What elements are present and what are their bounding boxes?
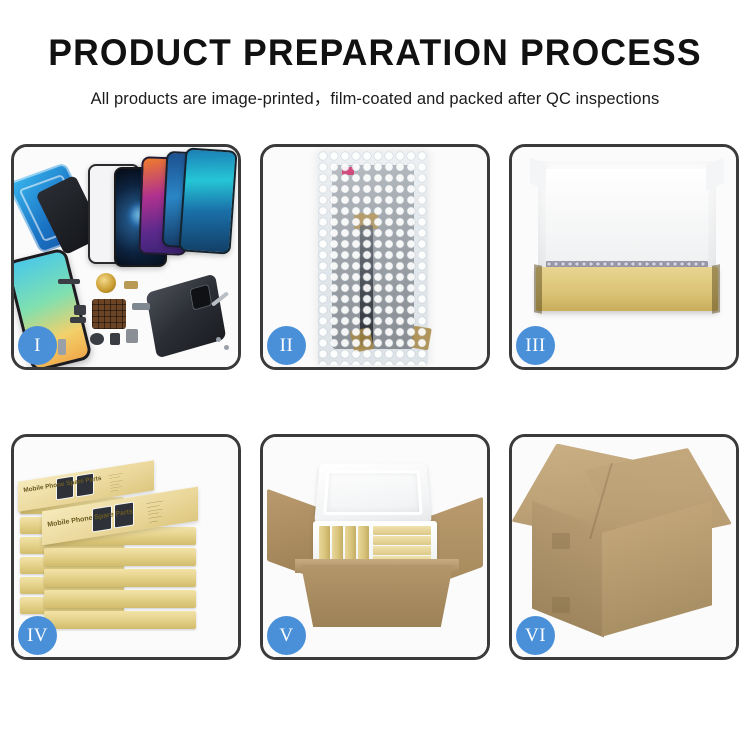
carton-body-icon — [301, 565, 453, 627]
process-step-panel-4: Mobile Phone Spare Parts ───────────────… — [11, 434, 241, 660]
part-screw-icon — [224, 345, 229, 350]
page-header: PRODUCT PREPARATION PROCESS All products… — [0, 0, 750, 109]
step-badge-3: III — [516, 326, 555, 365]
foam-lid-open-icon — [314, 464, 432, 524]
box-print-spec-lines: ──────────────────────────────────── — [146, 500, 166, 525]
part-button-icon — [58, 339, 66, 355]
yellow-box-tray-icon — [536, 267, 718, 311]
part-vibrator-icon — [110, 333, 120, 345]
page-subtitle: All products are image-printed，film-coat… — [0, 85, 750, 109]
step-badge-1: I — [18, 326, 57, 365]
page-title: PRODUCT PREPARATION PROCESS — [15, 34, 735, 73]
part-speaker-icon — [90, 333, 104, 345]
part-flex-icon — [70, 317, 86, 323]
foam-lid-icon — [538, 161, 716, 273]
step-badge-5: V — [267, 616, 306, 655]
step-badge-4: IV — [18, 616, 57, 655]
process-step-grid: I II III — [11, 144, 739, 660]
foam-sheet-icon — [546, 169, 708, 269]
flex-cable-grid-icon — [92, 299, 126, 329]
part-chip-icon — [58, 279, 80, 284]
step-badge-6: VI — [516, 616, 555, 655]
speaker-coil-icon — [96, 273, 116, 293]
part-bracket-icon — [124, 281, 138, 289]
part-camera-icon — [74, 305, 86, 315]
part-screw-icon — [216, 337, 221, 342]
carton-tape-icon — [552, 597, 570, 613]
phone-back-housing-icon — [146, 273, 227, 358]
process-step-panel-6: VI — [509, 434, 739, 660]
process-step-panel-1: I — [11, 144, 241, 370]
part-connector-icon — [132, 303, 150, 310]
process-step-panel-3: III — [509, 144, 739, 370]
bubble-wrap-bag — [318, 151, 428, 365]
part-sim-tray-icon — [126, 329, 138, 343]
carton-tape-icon — [552, 533, 570, 549]
bubble-texture — [318, 151, 428, 365]
process-step-panel-2: II — [260, 144, 490, 370]
process-step-panel-5: V — [260, 434, 490, 660]
box-print-spec-lines: ──────────────────────────────────── — [109, 472, 127, 494]
step-badge-2: II — [267, 326, 306, 365]
phone-teal-icon — [178, 147, 237, 254]
